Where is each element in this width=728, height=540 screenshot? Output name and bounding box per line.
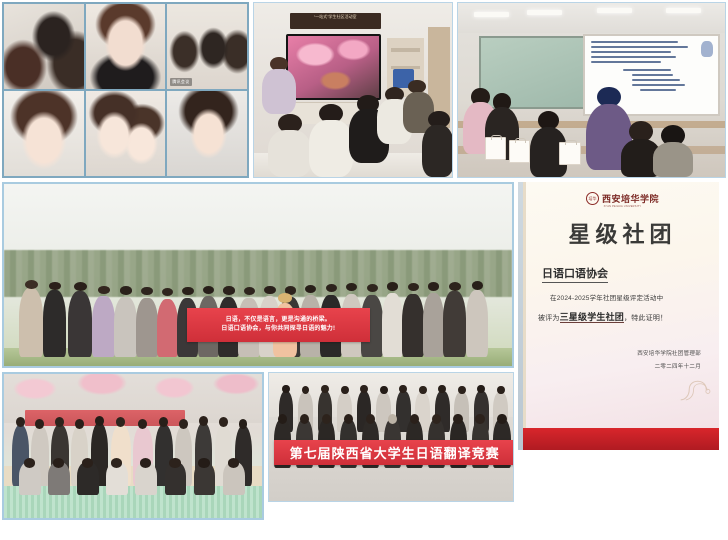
attendee-body xyxy=(653,142,693,177)
teacher-body xyxy=(262,69,296,114)
outdoor-banner-line1: 日语，不仅是语言，更是沟通的桥梁。 xyxy=(226,316,331,325)
slide-line: 5．唇（くちびる） xyxy=(591,94,592,95)
gift-bag xyxy=(509,140,530,163)
room-plaque: “一站式”学生社区活动室 xyxy=(290,13,381,29)
video-tile xyxy=(4,4,84,89)
collage-canvas: 腾讯会议 线上视频会议九宫格截图 “一站式”学生社区活动室 xyxy=(0,0,728,540)
certificate-body-suffix: ，特此证明！ xyxy=(624,315,667,322)
certificate-body-line1: 在2024-2025学年社团星级评定活动中 xyxy=(550,292,709,302)
university-logo: 培华 西安培华学院 xyxy=(536,192,709,205)
video-tile xyxy=(86,91,166,176)
tv-frame xyxy=(286,34,381,100)
video-tile: 腾讯会议 xyxy=(167,4,247,89)
gift-bag xyxy=(559,142,580,165)
video-tile xyxy=(86,4,166,89)
lecture-projector-session: 1．顔面（がんめん） 2．眼鏡（めがね） 3．眉（まゆ） 4．鼻（はな） 5．唇… xyxy=(457,2,726,178)
outdoor-banner-line2: 日语口语协会，与你共同探寻日语的魅力! xyxy=(221,325,335,334)
university-name-en: XI'AN PEIHUA UNIVERSITY xyxy=(536,205,709,208)
student-body xyxy=(309,120,353,177)
meeting-watermark: 腾讯会议 xyxy=(170,78,191,86)
certificate-paper: 培华 西安培华学院 XI'AN PEIHUA UNIVERSITY 星级社团 日… xyxy=(523,182,719,428)
university-seal-icon: 培华 xyxy=(586,192,599,205)
contest-banner-text: 第七届陕西省大学生日语翻译竞赛 xyxy=(290,443,500,462)
ceiling-light xyxy=(666,8,701,13)
slide-line: 2．眼鏡（めがね） xyxy=(591,94,592,95)
collage-title: 日语口语协会活动照片拼图 xyxy=(0,0,1,1)
certificate-body-prefix: 被评为 xyxy=(538,315,560,322)
outdoor-banner: 日语，不仅是语言，更是沟通的桥梁。 日语口语协会，与你共同探寻日语的魅力! xyxy=(187,308,370,343)
tv-screen-sakura xyxy=(288,36,379,98)
photo-caption: 协会户外大合影 xyxy=(4,184,5,185)
certificate-body-line2: 被评为三星级学生社团，特此证明！ xyxy=(538,310,709,323)
certificate-title: 星级社团 xyxy=(536,217,709,249)
star-club-certificate: 培华 西安培华学院 XI'AN PEIHUA UNIVERSITY 星级社团 日… xyxy=(518,182,724,450)
outdoor-group-photo: 日语，不仅是语言，更是沟通的桥梁。 日语口语协会，与你共同探寻日语的魅力! 协会… xyxy=(2,182,514,368)
room-plaque-text: “一站式”学生社区活动室 xyxy=(290,13,381,21)
classroom-tv-session: “一站式”学生社区活动室 教室樱花视频观影活动 xyxy=(253,2,453,178)
certificate-recipient: 日语口语协会 xyxy=(542,265,608,283)
certificate-award-level: 三星级学生社团 xyxy=(560,312,624,323)
gift-bag xyxy=(485,137,506,160)
photo-caption: 教室樱花视频观影活动 xyxy=(254,3,255,4)
student-body xyxy=(268,130,312,177)
certificate-date: 二零二四年十二月 xyxy=(536,362,701,370)
certificate-issuer: 西安培华学院社团管理部 xyxy=(536,349,701,357)
slide-mascot-icon xyxy=(701,41,713,57)
video-tile xyxy=(4,91,84,176)
video-tile xyxy=(167,91,247,176)
online-meeting-screenshot: 腾讯会议 线上视频会议九宫格截图 xyxy=(2,2,249,178)
photo-caption: 线上视频会议九宫格截图 xyxy=(2,2,3,3)
translation-contest-photo: 第七届陕西省大学生日语翻译竞赛 翻译竞赛合影 xyxy=(268,372,514,502)
crowd-seated xyxy=(12,458,255,495)
slide-line: 3．眉（まゆ） xyxy=(591,94,592,95)
slide-line: 1．顔面（がんめん） xyxy=(591,94,592,95)
ceiling-light xyxy=(474,12,509,17)
ceiling-light xyxy=(527,10,562,15)
university-name-cn: 西安培华学院 xyxy=(602,192,659,205)
student-body xyxy=(422,125,453,177)
ceiling-light xyxy=(597,8,632,13)
shelf-plank xyxy=(391,48,421,51)
contest-banner: 第七届陕西省大学生日语翻译竞赛 xyxy=(274,440,514,466)
corner-flourish-icon xyxy=(679,374,713,402)
sakura-group-photo: 日语 樱花季和服合影 xyxy=(2,372,264,520)
slide-line: 4．鼻（はな） xyxy=(591,94,592,95)
certificate-red-base xyxy=(523,428,719,450)
